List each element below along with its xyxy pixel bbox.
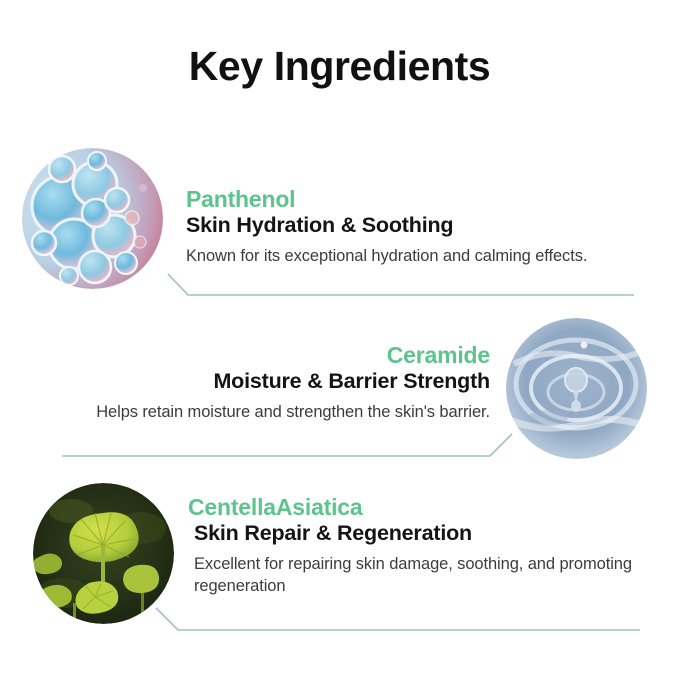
ingredient-description-centella: Excellent for repairing skin damage, soo… <box>188 553 638 597</box>
bubbles-illustration <box>22 148 163 289</box>
ingredient-block-ceramide: Ceramide Moisture & Barrier Strength Hel… <box>20 342 490 423</box>
page-title: Key Ingredients <box>0 44 679 89</box>
ingredient-name-ceramide: Ceramide <box>20 342 490 369</box>
leaves-illustration <box>33 483 174 624</box>
ingredient-name-panthenol: Panthenol <box>186 186 656 213</box>
bubbles-photo <box>22 148 163 289</box>
centella-leaves-photo <box>33 483 174 624</box>
droplet-illustration <box>506 318 647 459</box>
ingredient-name-centella: CentellaAsiatica <box>188 494 638 521</box>
water-droplet-photo <box>506 318 647 459</box>
ingredient-benefit-ceramide: Moisture & Barrier Strength <box>20 369 490 395</box>
ingredient-block-panthenol: Panthenol Skin Hydration & Soothing Know… <box>186 186 656 267</box>
ingredient-block-centella: CentellaAsiatica Skin Repair & Regenerat… <box>188 494 638 597</box>
connector-line-ceramide <box>62 434 512 456</box>
infographic-page: Key Ingredients <box>0 0 679 679</box>
ingredient-benefit-centella: Skin Repair & Regeneration <box>188 521 638 547</box>
connector-line-panthenol <box>168 274 634 295</box>
connector-line-centella <box>156 608 640 630</box>
ingredient-benefit-panthenol: Skin Hydration & Soothing <box>186 213 656 239</box>
ingredient-description-ceramide: Helps retain moisture and strengthen the… <box>20 401 490 423</box>
ingredient-description-panthenol: Known for its exceptional hydration and … <box>186 245 656 267</box>
